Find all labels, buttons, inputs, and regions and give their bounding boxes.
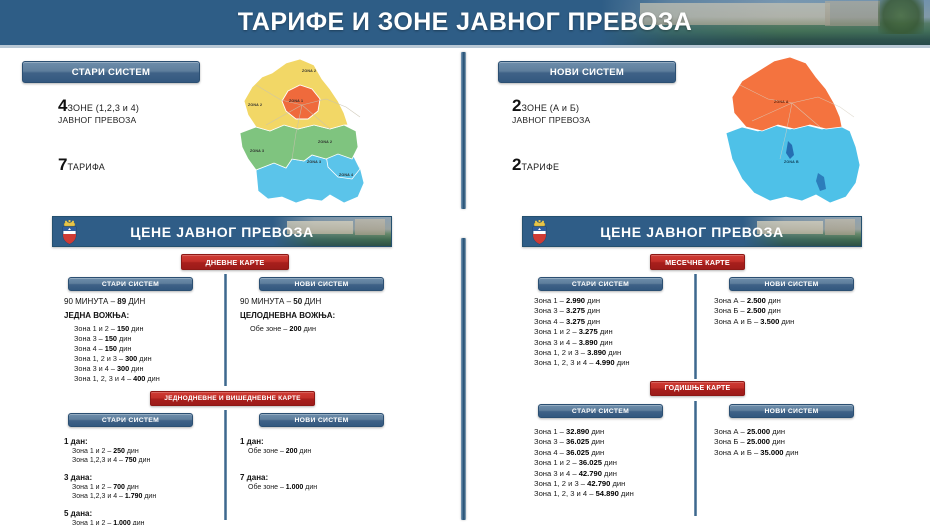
right-panel-banner: ЦЕНЕ ЈАВНОГ ПРЕВОЗА <box>522 216 862 247</box>
new-map-svg <box>722 55 882 205</box>
left-daily-new-headline-value: 50 <box>293 297 302 306</box>
right-yearly-old-system-badge[interactable]: СТАРИ СИСТЕМ <box>538 404 663 418</box>
right-monthly-new-rows: Зона А – 2.500 дин Зона Б – 2.500 дин Зо… <box>714 296 794 327</box>
list-item: 1 дан: Обе зоне – 200 дин <box>240 436 317 456</box>
list-item: Зона 1, 2, 3 и 4 – 400 дин <box>74 374 160 384</box>
new-tariffs-text: ТАРИФЕ <box>521 162 559 172</box>
list-item: 1 дан: Зона 1 и 2 – 250 дин Зона 1,2,3 и… <box>64 436 156 465</box>
list-item: Зона 3 и 4 – 300 дин <box>74 364 160 374</box>
table-row: Зона 1, 2 и 3 – 42.790 дин <box>534 479 634 489</box>
new-map-label-zona-b: ZONA B <box>784 160 799 164</box>
right-yearly-column-divider <box>694 401 697 516</box>
new-zones-text: ЗОНЕ (А и Б) <box>521 103 579 113</box>
table-row: Зона 1 – 32.890 дин <box>534 427 634 437</box>
right-yearly-new-rows: Зона А – 25.000 дин Зона Б – 25.000 дин … <box>714 427 799 458</box>
old-map-label-zona4: ZONA 4 <box>339 173 353 177</box>
left-daily-old-headline-value: 89 <box>117 297 126 306</box>
page-title: ТАРИФЕ И ЗОНЕ ЈАВНОГ ПРЕВОЗА <box>0 0 930 45</box>
new-map-label-zona-a: ZONA A <box>774 100 789 104</box>
old-map-label-zona1: ZONA 1 <box>289 99 303 103</box>
table-row: Зона 1, 2 и 3 – 3.890 дин <box>534 348 630 358</box>
list-item: Обе зоне – 200 дин <box>250 324 316 334</box>
right-monthly-column-divider <box>694 274 697 379</box>
old-tariffs-text: ТАРИФА <box>67 162 105 172</box>
old-map-label-zona2-south: ZONA 2 <box>318 140 332 144</box>
new-zones-subtext: ЈАВНОГ ПРЕВОЗА <box>512 115 590 125</box>
tab-dnevne-karte[interactable]: ДНЕВНЕ КАРТЕ <box>181 254 289 270</box>
table-row: Зона 1 и 2 – 36.025 дин <box>534 458 634 468</box>
new-tariffs-summary: 2ТАРИФЕ <box>512 155 559 175</box>
left-multiday-old-system-badge[interactable]: СТАРИ СИСТЕМ <box>68 413 193 427</box>
table-row: Зона А и Б – 35.000 дин <box>714 448 799 458</box>
new-system-zone-map: ZONA A ZONA B <box>722 55 882 205</box>
table-row: Зона 4 – 3.275 дин <box>534 317 630 327</box>
left-multiday-new-system-badge[interactable]: НОВИ СИСТЕМ <box>259 413 384 427</box>
left-multiday-new-groups: 1 дан: Обе зоне – 200 дин 7 дана: Обе зо… <box>240 436 317 492</box>
list-item: Зона 3 – 150 дин <box>74 334 160 344</box>
left-daily-old-headline-prefix: 90 МИНУТА – <box>64 297 117 306</box>
old-map-label-zona2-north: ZONA 2 <box>302 69 316 73</box>
table-row: Зона 3 и 4 – 42.790 дин <box>534 469 634 479</box>
list-item: 5 дана: Зона 1 и 2 – 1.000 дин Зона 1,2,… <box>64 508 156 525</box>
table-row: Зона 1, 2, 3 и 4 – 54.890 дин <box>534 489 634 499</box>
new-system-badge-top[interactable]: НОВИ СИСТЕМ <box>498 61 676 83</box>
table-row: Зона А – 2.500 дин <box>714 296 794 306</box>
table-row: Зона 3 – 3.275 дин <box>534 306 630 316</box>
old-map-label-zona3-south: ZONA 3 <box>307 160 321 164</box>
old-tariffs-summary: 7ТАРИФА <box>58 155 105 175</box>
left-daily-old-system-badge[interactable]: СТАРИ СИСТЕМ <box>68 277 193 291</box>
right-yearly-old-rows: Зона 1 – 32.890 дин Зона 3 – 36.025 дин … <box>534 427 634 500</box>
infographic-page: ТАРИФЕ И ЗОНЕ ЈАВНОГ ПРЕВОЗА СТАРИ СИСТЕ… <box>0 0 930 525</box>
left-daily-new-headline: 90 МИНУТА – 50 ДИН <box>240 297 321 306</box>
top-center-divider <box>461 52 466 209</box>
table-row: Зона Б – 2.500 дин <box>714 306 794 316</box>
new-zones-summary: 2ЗОНЕ (А и Б) <box>512 96 579 116</box>
table-row: Зона 1 – 2.990 дин <box>534 296 630 306</box>
right-monthly-new-system-badge[interactable]: НОВИ СИСТЕМ <box>729 277 854 291</box>
left-panel-banner: ЦЕНЕ ЈАВНОГ ПРЕВОЗА <box>52 216 392 247</box>
left-daily-column-divider <box>224 274 227 386</box>
old-map-label-zona3-west: ZONA 3 <box>250 149 264 153</box>
list-item: 3 дана: Зона 1 и 2 – 700 дин Зона 1,2,3 … <box>64 472 156 501</box>
left-daily-new-headline-prefix: 90 МИНУТА – <box>240 297 293 306</box>
right-panel-title: ЦЕНЕ ЈАВНОГ ПРЕВОЗА <box>523 217 861 246</box>
table-row: Зона 1, 2, 3 и 4 – 4.990 дин <box>534 358 630 368</box>
page-header: ТАРИФЕ И ЗОНЕ ЈАВНОГ ПРЕВОЗА <box>0 0 930 45</box>
left-daily-old-headline-suffix: ДИН <box>126 297 145 306</box>
left-multiday-column-divider <box>224 410 227 520</box>
tab-jednodnevne-visednevne-karte[interactable]: ЈЕДНОДНЕВНЕ И ВИШЕДНЕВНЕ КАРТЕ <box>150 391 315 406</box>
old-zones-subtext: ЈАВНОГ ПРЕВОЗА <box>58 115 136 125</box>
left-daily-new-subtitle: ЦЕЛОДНЕВНА ВОЖЊА: <box>240 311 335 320</box>
right-monthly-old-rows: Зона 1 – 2.990 дин Зона 3 – 3.275 дин Зо… <box>534 296 630 369</box>
left-daily-old-headline: 90 МИНУТА – 89 ДИН <box>64 297 145 306</box>
list-item: Зона 1, 2 и 3 – 300 дин <box>74 354 160 364</box>
table-row: Зона 3 и 4 – 3.890 дин <box>534 338 630 348</box>
left-daily-new-headline-suffix: ДИН <box>302 297 321 306</box>
right-monthly-old-system-badge[interactable]: СТАРИ СИСТЕМ <box>538 277 663 291</box>
left-daily-new-system-badge[interactable]: НОВИ СИСТЕМ <box>259 277 384 291</box>
header-underline <box>0 45 930 48</box>
old-zones-text: ЗОНЕ (1,2,3 и 4) <box>67 103 139 113</box>
list-item: Зона 1 и 2 – 150 дин <box>74 324 160 334</box>
bottom-center-divider <box>461 238 466 520</box>
table-row: Зона 3 – 36.025 дин <box>534 437 634 447</box>
table-row: Зона 4 – 36.025 дин <box>534 448 634 458</box>
tab-mesecne-karte[interactable]: МЕСЕЧНЕ КАРТЕ <box>650 254 745 270</box>
table-row: Зона А и Б – 3.500 дин <box>714 317 794 327</box>
left-daily-old-list: Зона 1 и 2 – 150 дин Зона 3 – 150 дин Зо… <box>74 324 160 383</box>
old-system-zone-map: ZONA 1 ZONA 2 ZONA 2 ZONA 2 ZONA 3 ZONA … <box>226 55 386 205</box>
old-zones-summary: 4ЗОНЕ (1,2,3 и 4) <box>58 96 139 116</box>
table-row: Зона Б – 25.000 дин <box>714 437 799 447</box>
tab-godisnje-karte[interactable]: ГОДИШЊЕ КАРТЕ <box>650 381 745 396</box>
list-item: Зона 4 – 150 дин <box>74 344 160 354</box>
table-row: Зона А – 25.000 дин <box>714 427 799 437</box>
table-row: Зона 1 и 2 – 3.275 дин <box>534 327 630 337</box>
right-yearly-new-system-badge[interactable]: НОВИ СИСТЕМ <box>729 404 854 418</box>
old-map-svg <box>226 55 386 205</box>
left-daily-old-subtitle: ЈЕДНА ВОЖЊА: <box>64 311 129 320</box>
left-daily-new-list: Обе зоне – 200 дин <box>250 324 316 334</box>
left-panel-title: ЦЕНЕ ЈАВНОГ ПРЕВОЗА <box>53 217 391 246</box>
old-system-badge-top[interactable]: СТАРИ СИСТЕМ <box>22 61 200 83</box>
old-map-label-zona2-west: ZONA 2 <box>248 103 262 107</box>
list-item: 7 дана: Обе зоне – 1.000 дин <box>240 472 317 492</box>
left-multiday-old-groups: 1 дан: Зона 1 и 2 – 250 дин Зона 1,2,3 и… <box>64 436 156 525</box>
